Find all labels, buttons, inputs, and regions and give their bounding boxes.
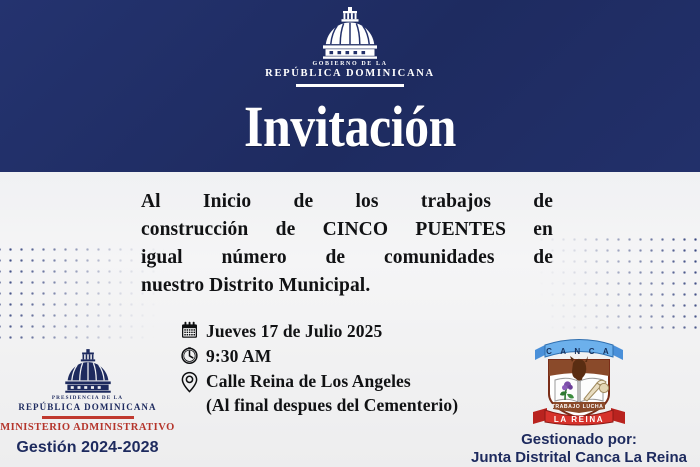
description-line: construcción de CINCO PUENTES en	[141, 216, 553, 244]
canca-la-reina-coat-of-arms-icon: C A N C A	[464, 332, 694, 428]
organizer-block: C A N C A	[464, 332, 694, 466]
government-logo-line2: REPÚBLICA DOMINICANA	[265, 68, 435, 79]
logo-divider-rule	[296, 84, 404, 87]
header-banner: GOBIERNO DE LA REPÚBLICA DOMINICANA Invi…	[0, 0, 700, 172]
svg-text:LA REINA: LA REINA	[554, 415, 604, 424]
location-pin-icon	[180, 369, 206, 393]
svg-text:LUCHA: LUCHA	[583, 404, 604, 410]
svg-text:TRABAJO: TRABAJO	[552, 404, 581, 410]
ministry-name: MINISTERIO ADMINISTRATIVO	[0, 422, 175, 433]
clock-icon	[180, 344, 206, 365]
dominican-republic-dome-icon	[312, 6, 388, 60]
invitation-description: Al Inicio de los trabajos de construcció…	[141, 188, 553, 300]
svg-text:C A N C A: C A N C A	[546, 347, 612, 356]
decorative-dot-pattern-right	[536, 234, 700, 329]
ministry-divider-rule	[42, 416, 134, 419]
administration-term: Gestión 2024-2028	[0, 439, 175, 457]
event-date-text: Jueves 17 de Julio 2025	[206, 319, 382, 343]
presidency-line2: REPÚBLICA DOMINICANA	[0, 402, 175, 412]
event-location-note-text: (Al final despues del Cementerio)	[206, 393, 458, 417]
decorative-dot-pattern-left	[0, 244, 164, 339]
page-title: Invitación	[49, 96, 651, 158]
calendar-icon	[180, 319, 206, 340]
organizer-name: Junta Distrital Canca La Reina	[464, 449, 694, 466]
government-logo: GOBIERNO DE LA REPÚBLICA DOMINICANA	[0, 6, 700, 87]
description-line: nuestro Distrito Municipal.	[141, 272, 553, 300]
dominican-republic-dome-icon	[0, 348, 175, 394]
spacer	[180, 393, 206, 395]
presidency-line1: PRESIDENCIA DE LA	[0, 395, 175, 401]
description-line: igual número de comunidades de	[141, 244, 553, 272]
event-time-text: 9:30 AM	[206, 344, 271, 368]
body-section: Al Inicio de los trabajos de construcció…	[0, 172, 700, 467]
invitation-poster: GOBIERNO DE LA REPÚBLICA DOMINICANA Invi…	[0, 0, 700, 467]
event-location-text: Calle Reina de Los Angeles	[206, 369, 411, 393]
government-logo-line1: GOBIERNO DE LA	[312, 61, 387, 67]
description-line: Al Inicio de los trabajos de	[141, 188, 553, 216]
organizer-label: Gestionado por:	[464, 431, 694, 448]
ministry-logo-block: PRESIDENCIA DE LA REPÚBLICA DOMINICANA M…	[0, 348, 175, 457]
